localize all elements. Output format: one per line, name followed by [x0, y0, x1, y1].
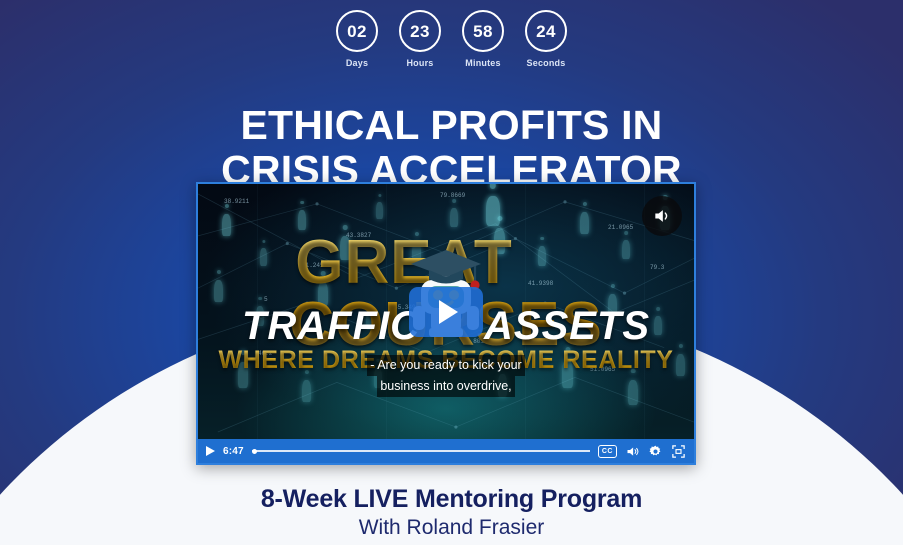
countdown-label-minutes: Minutes [465, 58, 500, 68]
program-info: 8-Week LIVE Mentoring Program With Rolan… [0, 484, 903, 542]
countdown-value-minutes: 58 [473, 23, 493, 40]
page-title-line1: ETHICAL PROFITS IN [0, 103, 903, 148]
video-overlay-brand-right: ASSETS [484, 304, 650, 348]
closed-captions-icon[interactable]: CC [598, 445, 617, 458]
countdown-circle-days: 02 [336, 10, 378, 52]
page-title: ETHICAL PROFITS IN CRISIS ACCELERATOR [0, 103, 903, 193]
scene-number: 79.8669 [440, 192, 465, 199]
countdown-circle-minutes: 58 [462, 10, 504, 52]
video-overlay-brand-left: TRAFFIC [242, 304, 420, 348]
countdown-timer: 02 Days 23 Hours 58 Minutes 24 Seconds [0, 10, 903, 68]
countdown-label-hours: Hours [406, 58, 433, 68]
countdown-label-seconds: Seconds [527, 58, 566, 68]
cc-label: CC [598, 445, 617, 458]
video-stage: 38.9211 43.3827 41.2452 79.8669 21.0965 … [198, 184, 694, 439]
control-play-icon[interactable] [206, 446, 215, 456]
play-icon[interactable] [409, 287, 483, 337]
video-progress-bar[interactable] [252, 445, 590, 457]
program-host: With Roland Frasier [0, 514, 903, 542]
scene-number: 38.9211 [224, 198, 249, 205]
video-controls: 6:47 CC [198, 439, 694, 463]
countdown-value-hours: 23 [410, 23, 430, 40]
countdown-circle-hours: 23 [399, 10, 441, 52]
countdown-unit-minutes: 58 Minutes [455, 10, 511, 68]
countdown-value-days: 02 [347, 23, 367, 40]
fullscreen-icon[interactable] [671, 444, 686, 459]
video-time: 6:47 [223, 446, 244, 457]
scene-number: 21.0965 [608, 224, 633, 231]
video-captions: - Are you ready to kick your business in… [198, 355, 694, 397]
landing-page: 02 Days 23 Hours 58 Minutes 24 Seconds E… [0, 0, 903, 545]
program-title: 8-Week LIVE Mentoring Program [0, 484, 903, 514]
gear-icon[interactable] [648, 444, 663, 459]
caption-line1: - Are you ready to kick your [367, 355, 524, 376]
video-player[interactable]: 38.9211 43.3827 41.2452 79.8669 21.0965 … [196, 182, 696, 465]
volume-icon[interactable] [625, 444, 640, 459]
caption-line2: business into overdrive, [377, 376, 514, 397]
countdown-unit-seconds: 24 Seconds [518, 10, 574, 68]
countdown-value-seconds: 24 [536, 23, 556, 40]
countdown-unit-hours: 23 Hours [392, 10, 448, 68]
countdown-circle-seconds: 24 [525, 10, 567, 52]
speaker-muted-icon[interactable] [642, 196, 682, 236]
countdown-unit-days: 02 Days [329, 10, 385, 68]
countdown-label-days: Days [346, 58, 368, 68]
